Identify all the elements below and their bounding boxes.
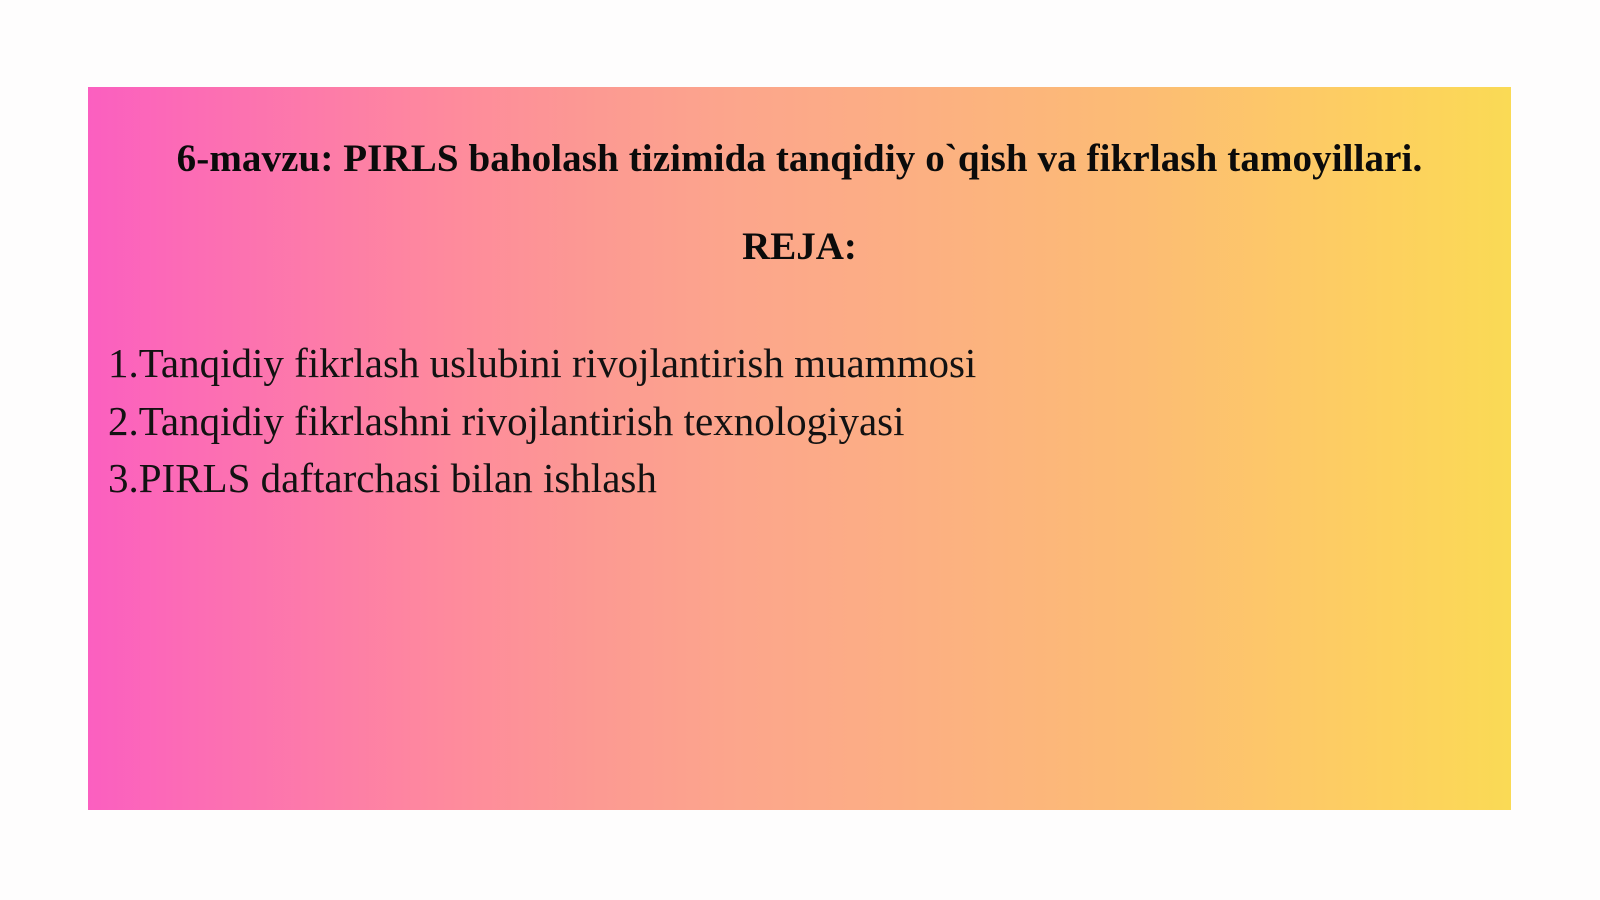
title-spacer bbox=[108, 184, 1491, 222]
agenda-item: 1.Tanqidiy fikrlash uslubini rivojlantir… bbox=[108, 335, 1491, 392]
agenda-item: 3.PIRLS daftarchasi bilan ishlash bbox=[108, 450, 1491, 507]
slide-content-panel: 6-mavzu: PIRLS baholash tizimida tanqidi… bbox=[88, 87, 1511, 810]
agenda-item: 2.Tanqidiy fikrlashni rivojlantirish tex… bbox=[108, 393, 1491, 450]
agenda-list: 1.Tanqidiy fikrlash uslubini rivojlantir… bbox=[108, 335, 1491, 507]
slide-title: 6-mavzu: PIRLS baholash tizimida tanqidi… bbox=[108, 87, 1491, 184]
heading-spacer bbox=[108, 273, 1491, 335]
slide-stage: 6-mavzu: PIRLS baholash tizimida tanqidi… bbox=[0, 0, 1600, 900]
panel-inner: 6-mavzu: PIRLS baholash tizimida tanqidi… bbox=[88, 87, 1511, 810]
section-heading-reja: REJA: bbox=[108, 222, 1491, 273]
